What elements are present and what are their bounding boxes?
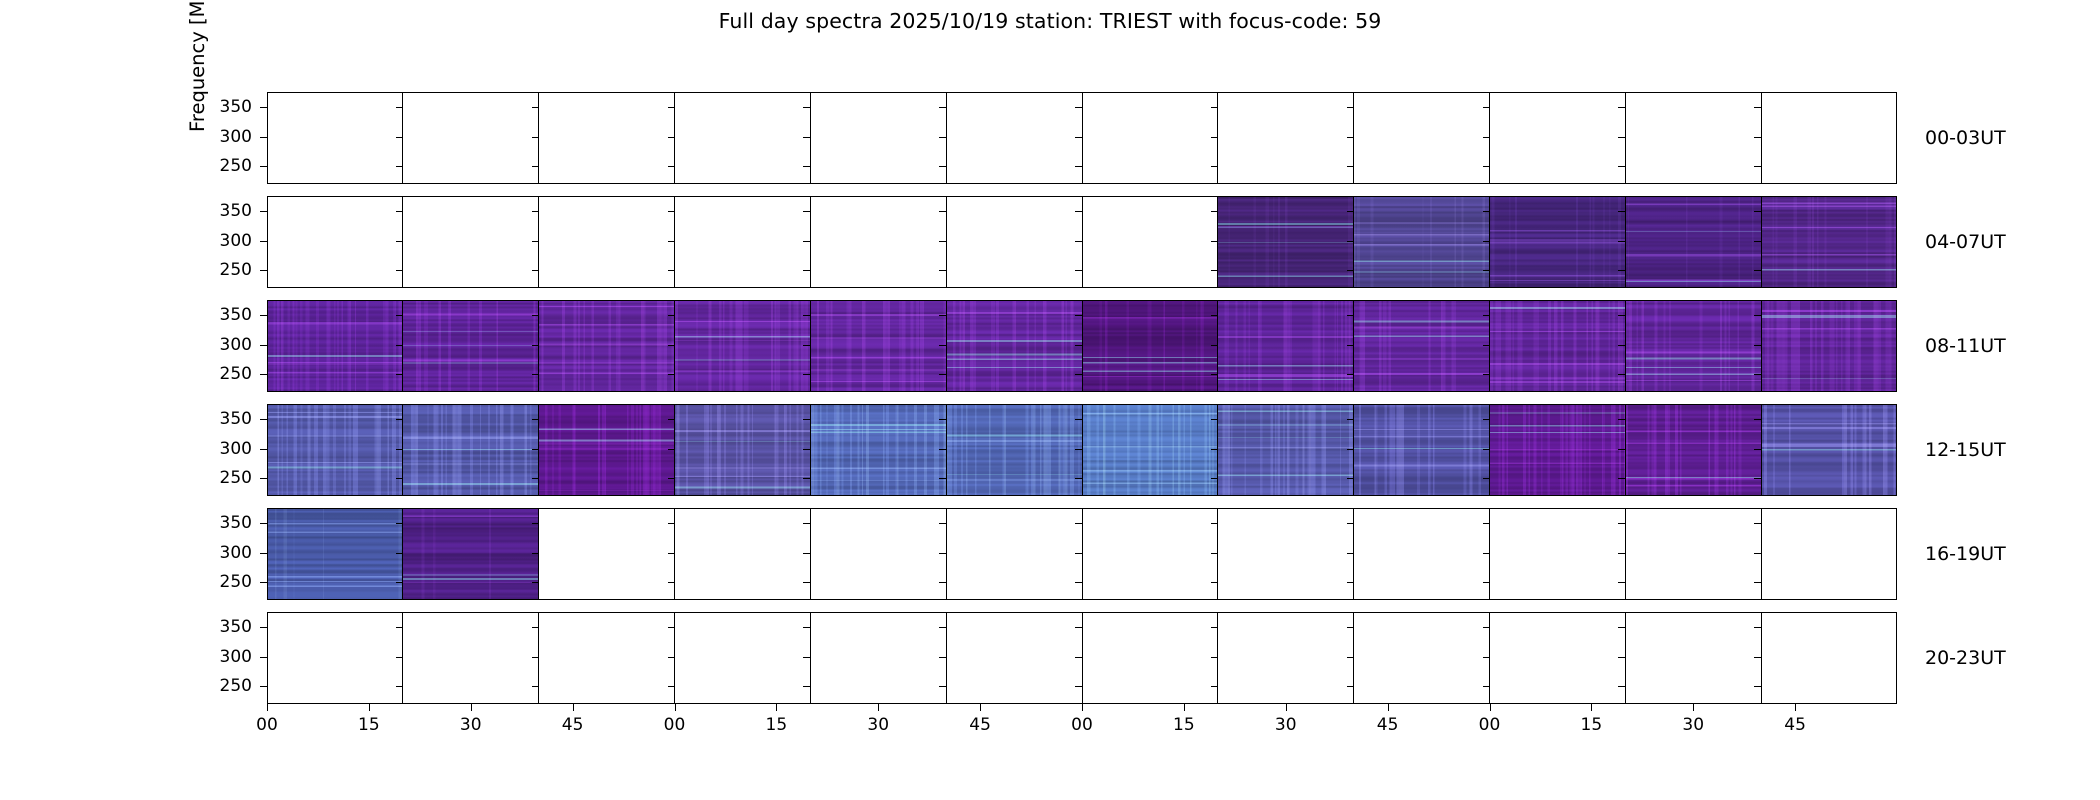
y-tick-interior (1618, 419, 1625, 420)
y-tick-interior (1347, 686, 1354, 687)
spectro-cell[interactable] (675, 508, 811, 600)
y-tick-interior (1754, 374, 1761, 375)
y-tick-interior (668, 657, 675, 658)
spectro-cell[interactable] (1354, 612, 1490, 704)
y-tick (260, 241, 267, 242)
x-tick-label: 15 (1173, 715, 1195, 735)
y-tick-interior (532, 137, 539, 138)
spectro-cell[interactable] (1490, 404, 1626, 496)
spectro-cell[interactable] (1354, 508, 1490, 600)
y-tick-interior (532, 523, 539, 524)
y-tick-interior (1075, 211, 1082, 212)
spectro-cell[interactable] (1083, 92, 1219, 184)
cell-fill (1218, 196, 1353, 288)
y-tick-interior (396, 166, 403, 167)
y-tick-interior (1483, 137, 1490, 138)
spectro-cell[interactable] (539, 404, 675, 496)
x-tick-label: 45 (562, 715, 584, 735)
y-tick-interior (1618, 657, 1625, 658)
y-tick-interior (1618, 315, 1625, 316)
y-tick-interior (1211, 627, 1218, 628)
spectro-cell[interactable] (1083, 404, 1219, 496)
cell-fill (403, 92, 538, 184)
spectro-cell[interactable] (267, 196, 403, 288)
y-tick-interior (1075, 449, 1082, 450)
y-tick-interior (1075, 107, 1082, 108)
y-tick-interior (939, 241, 946, 242)
y-tick-interior (396, 345, 403, 346)
x-tick-label: 00 (1479, 715, 1501, 735)
spectro-cell[interactable] (1083, 196, 1219, 288)
y-tick-interior (396, 478, 403, 479)
spectro-cell[interactable] (539, 300, 675, 392)
cell-fill (811, 196, 946, 288)
y-tick-interior (1347, 166, 1354, 167)
spectro-cell[interactable] (1762, 300, 1897, 392)
cell-fill (267, 300, 402, 392)
spectro-cell[interactable] (267, 92, 403, 184)
spectro-cell[interactable] (1762, 92, 1897, 184)
y-tick-interior (1211, 374, 1218, 375)
emission-line-texture (1218, 300, 1353, 392)
spectro-cell[interactable] (1762, 196, 1897, 288)
y-tick-interior (1754, 315, 1761, 316)
y-tick-interior (1618, 553, 1625, 554)
emission-line-texture (539, 404, 674, 496)
cell-fill (811, 300, 946, 392)
spectro-cell[interactable] (1490, 92, 1626, 184)
spectro-cell[interactable] (1083, 508, 1219, 600)
spectro-cell[interactable] (1218, 92, 1354, 184)
spectro-cell[interactable] (675, 196, 811, 288)
y-tick-interior (1347, 478, 1354, 479)
cell-fill (1762, 612, 1897, 704)
spectro-cell[interactable] (267, 404, 403, 496)
x-tick-label: 30 (1275, 715, 1297, 735)
spectro-cell[interactable] (675, 300, 811, 392)
emission-line-texture (1762, 404, 1897, 496)
y-tick-interior (939, 270, 946, 271)
y-tick-interior (1754, 553, 1761, 554)
y-tick-interior (532, 315, 539, 316)
spectro-cell[interactable] (1218, 300, 1354, 392)
y-tick-interior (396, 582, 403, 583)
y-tick-label: 250 (172, 468, 252, 488)
cell-fill (403, 508, 538, 600)
cell-fill (1218, 300, 1353, 392)
y-tick-interior (1754, 107, 1761, 108)
y-tick-interior (668, 582, 675, 583)
spectro-cell[interactable] (1218, 508, 1354, 600)
cell-fill (675, 92, 810, 184)
spectro-cell[interactable] (1083, 612, 1219, 704)
cell-fill (947, 92, 1082, 184)
row-label-4: 04-07UT (1925, 231, 2006, 253)
y-tick-label: 350 (172, 617, 252, 637)
cell-fill (539, 404, 674, 496)
cell-fill (1354, 508, 1489, 600)
spectro-cell[interactable] (1762, 508, 1897, 600)
y-tick (260, 419, 267, 420)
cell-fill (1490, 300, 1625, 392)
y-tick-interior (668, 374, 675, 375)
x-tick (267, 704, 268, 711)
y-tick-interior (803, 523, 810, 524)
spectro-cell[interactable] (811, 196, 947, 288)
cell-fill (947, 508, 1082, 600)
y-tick-interior (1211, 241, 1218, 242)
spectrogram-row-0[interactable] (267, 92, 1897, 184)
y-tick-interior (803, 107, 810, 108)
spectro-cell[interactable] (947, 612, 1083, 704)
y-tick-interior (1754, 241, 1761, 242)
spectrogram-row-4[interactable] (267, 196, 1897, 288)
y-tick-interior (1347, 374, 1354, 375)
y-tick-interior (1211, 315, 1218, 316)
y-tick-label: 350 (172, 201, 252, 221)
spectro-cell[interactable] (1490, 612, 1626, 704)
y-tick-interior (396, 315, 403, 316)
spectrogram-row-16[interactable] (267, 508, 1897, 600)
y-tick-interior (1618, 523, 1625, 524)
spectro-cell[interactable] (539, 508, 675, 600)
y-tick-interior (939, 582, 946, 583)
spectro-cell[interactable] (539, 196, 675, 288)
spectro-cell[interactable] (1626, 508, 1762, 600)
y-tick-interior (1618, 211, 1625, 212)
y-tick-interior (803, 211, 810, 212)
y-tick-interior (668, 523, 675, 524)
spectro-cell[interactable] (811, 92, 947, 184)
y-tick-interior (1347, 657, 1354, 658)
y-tick (260, 627, 267, 628)
y-tick-interior (803, 137, 810, 138)
row-cells (267, 508, 1897, 600)
cell-fill (1626, 508, 1761, 600)
y-tick-interior (1211, 553, 1218, 554)
spectro-cell[interactable] (403, 508, 539, 600)
y-tick-interior (1347, 553, 1354, 554)
spectro-cell[interactable] (1218, 612, 1354, 704)
emission-line-texture (811, 404, 946, 496)
emission-line-texture (947, 404, 1082, 496)
x-tick (1388, 704, 1389, 711)
cell-fill (1354, 196, 1489, 288)
y-tick-interior (803, 478, 810, 479)
y-tick-interior (396, 419, 403, 420)
cell-fill (675, 404, 810, 496)
spectro-cell[interactable] (947, 92, 1083, 184)
spectro-cell[interactable] (1490, 508, 1626, 600)
cell-fill (1490, 196, 1625, 288)
cell-fill (1626, 92, 1761, 184)
y-tick-interior (1483, 211, 1490, 212)
cell-fill (267, 612, 402, 704)
cell-fill (403, 196, 538, 288)
y-tick-interior (1075, 345, 1082, 346)
y-tick-interior (1754, 478, 1761, 479)
y-tick-label: 300 (172, 231, 252, 251)
y-tick-interior (1211, 166, 1218, 167)
x-tick-label: 30 (1682, 715, 1704, 735)
y-tick-interior (532, 241, 539, 242)
cell-fill (1218, 508, 1353, 600)
y-tick (260, 137, 267, 138)
spectro-cell[interactable] (1490, 300, 1626, 392)
emission-line-texture (1490, 300, 1625, 392)
x-tick-label: 45 (1784, 715, 1806, 735)
spectro-cell[interactable] (675, 612, 811, 704)
spectro-cell[interactable] (403, 300, 539, 392)
x-tick (573, 704, 574, 711)
y-tick-label: 300 (172, 543, 252, 563)
spectro-cell[interactable] (811, 300, 947, 392)
spectro-cell[interactable] (1218, 404, 1354, 496)
y-tick-interior (396, 449, 403, 450)
spectro-cell[interactable] (1490, 196, 1626, 288)
spectro-cell[interactable] (1626, 404, 1762, 496)
y-tick-interior (1483, 166, 1490, 167)
y-tick-interior (1754, 523, 1761, 524)
y-tick-interior (396, 211, 403, 212)
spectro-cell[interactable] (1354, 404, 1490, 496)
y-tick-interior (1347, 137, 1354, 138)
y-tick (260, 270, 267, 271)
y-tick (260, 553, 267, 554)
y-tick-interior (1211, 345, 1218, 346)
y-tick-interior (668, 166, 675, 167)
y-tick-interior (803, 582, 810, 583)
page-title: Full day spectra 2025/10/19 station: TRI… (0, 9, 2100, 33)
emission-line-texture (1626, 300, 1761, 392)
cell-fill (1762, 196, 1897, 288)
emission-line-texture (1626, 196, 1761, 288)
cell-fill (1354, 92, 1489, 184)
cell-fill (1218, 92, 1353, 184)
y-tick-interior (803, 315, 810, 316)
y-tick-interior (939, 449, 946, 450)
y-tick-interior (1618, 270, 1625, 271)
spectrogram-row-8[interactable] (267, 300, 1897, 392)
y-tick-interior (1075, 627, 1082, 628)
x-tick (878, 704, 879, 711)
cell-fill (947, 300, 1082, 392)
y-tick-interior (1211, 449, 1218, 450)
cell-fill (1083, 196, 1218, 288)
cell-fill (1762, 92, 1897, 184)
y-tick-interior (1211, 419, 1218, 420)
x-tick-label: 15 (766, 715, 788, 735)
spectro-cell[interactable] (403, 196, 539, 288)
spectro-cell[interactable] (675, 92, 811, 184)
y-tick-interior (1754, 419, 1761, 420)
y-tick (260, 166, 267, 167)
row-cells (267, 92, 1897, 184)
spectrogram-row-20[interactable] (267, 612, 1897, 704)
y-tick-interior (532, 627, 539, 628)
emission-line-texture (1762, 196, 1897, 288)
x-tick-label: 30 (867, 715, 889, 735)
spectro-cell[interactable] (1354, 300, 1490, 392)
y-tick-interior (803, 374, 810, 375)
spectro-cell[interactable] (403, 92, 539, 184)
spectro-cell[interactable] (1354, 196, 1490, 288)
y-tick-interior (668, 419, 675, 420)
y-tick-interior (1347, 270, 1354, 271)
y-tick-interior (668, 553, 675, 554)
cell-fill (1354, 404, 1489, 496)
y-tick-label: 250 (172, 676, 252, 696)
spectro-cell[interactable] (675, 404, 811, 496)
y-tick (260, 211, 267, 212)
cell-fill (1490, 92, 1625, 184)
cell-fill (947, 404, 1082, 496)
spectro-cell[interactable] (1626, 196, 1762, 288)
y-tick-interior (532, 270, 539, 271)
spectro-cell[interactable] (539, 612, 675, 704)
emission-line-texture (1490, 404, 1625, 496)
emission-line-texture (1626, 404, 1761, 496)
y-tick-interior (1075, 478, 1082, 479)
x-tick-label: 00 (256, 715, 278, 735)
row-cells (267, 612, 1897, 704)
y-tick-interior (1618, 241, 1625, 242)
x-tick (1591, 704, 1592, 711)
emission-line-texture (1218, 196, 1353, 288)
y-tick-interior (532, 107, 539, 108)
x-tick (471, 704, 472, 711)
y-tick-interior (1618, 107, 1625, 108)
x-tick-label: 45 (1377, 715, 1399, 735)
y-tick-label: 250 (172, 260, 252, 280)
spectro-cell[interactable] (403, 404, 539, 496)
y-tick (260, 686, 267, 687)
spectro-cell[interactable] (947, 508, 1083, 600)
y-tick-interior (1483, 478, 1490, 479)
spectro-cell[interactable] (267, 612, 403, 704)
cell-fill (539, 300, 674, 392)
y-tick-interior (1211, 137, 1218, 138)
x-tick (1286, 704, 1287, 711)
cell-fill (1083, 508, 1218, 600)
spectro-cell[interactable] (1626, 92, 1762, 184)
y-tick-interior (939, 374, 946, 375)
y-tick-label: 250 (172, 156, 252, 176)
y-tick-interior (1618, 686, 1625, 687)
x-tick (1693, 704, 1694, 711)
y-tick-interior (1075, 419, 1082, 420)
spectro-cell[interactable] (947, 300, 1083, 392)
y-tick-interior (939, 627, 946, 628)
emission-line-texture (267, 404, 402, 496)
y-tick-interior (939, 345, 946, 346)
spectro-cell[interactable] (811, 612, 947, 704)
y-tick-interior (668, 137, 675, 138)
y-tick-interior (1754, 686, 1761, 687)
y-tick-label: 300 (172, 335, 252, 355)
y-tick-interior (1211, 478, 1218, 479)
spectro-cell[interactable] (811, 508, 947, 600)
spectro-cell[interactable] (1083, 300, 1219, 392)
y-tick-interior (1347, 345, 1354, 346)
spectro-cell[interactable] (947, 196, 1083, 288)
y-tick-interior (532, 374, 539, 375)
y-tick-interior (1347, 523, 1354, 524)
spectro-cell[interactable] (1626, 612, 1762, 704)
cell-fill (1083, 300, 1218, 392)
row-label-16: 16-19UT (1925, 543, 2006, 565)
y-tick-interior (939, 553, 946, 554)
spectro-cell[interactable] (403, 612, 539, 704)
cell-fill (1626, 612, 1761, 704)
y-tick-interior (1754, 211, 1761, 212)
y-tick-interior (1483, 582, 1490, 583)
y-tick-interior (396, 657, 403, 658)
spectro-cell[interactable] (1354, 92, 1490, 184)
y-tick-interior (1618, 166, 1625, 167)
y-tick-interior (396, 270, 403, 271)
y-tick-interior (668, 241, 675, 242)
spectro-cell[interactable] (947, 404, 1083, 496)
emission-line-texture (403, 508, 538, 600)
spectro-cell[interactable] (267, 300, 403, 392)
y-tick-interior (803, 553, 810, 554)
cell-fill (1626, 404, 1761, 496)
x-tick (1082, 704, 1083, 711)
cell-fill (1626, 196, 1761, 288)
cell-fill (267, 404, 402, 496)
y-tick (260, 315, 267, 316)
y-tick-interior (396, 686, 403, 687)
cell-fill (1354, 612, 1489, 704)
y-tick-label: 300 (172, 439, 252, 459)
y-tick-interior (532, 419, 539, 420)
y-tick-label: 350 (172, 409, 252, 429)
y-tick-interior (803, 345, 810, 346)
emission-line-texture (267, 508, 402, 600)
y-tick-interior (1211, 270, 1218, 271)
y-tick-interior (1211, 657, 1218, 658)
cell-fill (1354, 300, 1489, 392)
row-label-0: 00-03UT (1925, 127, 2006, 149)
spectro-cell[interactable] (267, 508, 403, 600)
y-tick-label: 300 (172, 127, 252, 147)
cell-fill (539, 612, 674, 704)
cell-fill (539, 92, 674, 184)
y-tick-interior (1483, 449, 1490, 450)
y-tick-interior (803, 241, 810, 242)
y-tick-interior (803, 627, 810, 628)
y-tick-interior (1211, 582, 1218, 583)
spectro-cell[interactable] (1762, 612, 1897, 704)
spectro-cell[interactable] (811, 404, 947, 496)
y-tick-interior (803, 270, 810, 271)
spectro-cell[interactable] (1626, 300, 1762, 392)
row-cells (267, 196, 1897, 288)
row-label-12: 12-15UT (1925, 439, 2006, 461)
emission-line-texture (1218, 404, 1353, 496)
spectro-cell[interactable] (1762, 404, 1897, 496)
spectro-cell[interactable] (539, 92, 675, 184)
y-tick-interior (803, 449, 810, 450)
y-tick-interior (1483, 686, 1490, 687)
y-tick-interior (532, 657, 539, 658)
spectro-cell[interactable] (1218, 196, 1354, 288)
spectrogram-row-12[interactable] (267, 404, 1897, 496)
cell-fill (1083, 92, 1218, 184)
y-tick-interior (668, 107, 675, 108)
y-tick-interior (1754, 345, 1761, 346)
